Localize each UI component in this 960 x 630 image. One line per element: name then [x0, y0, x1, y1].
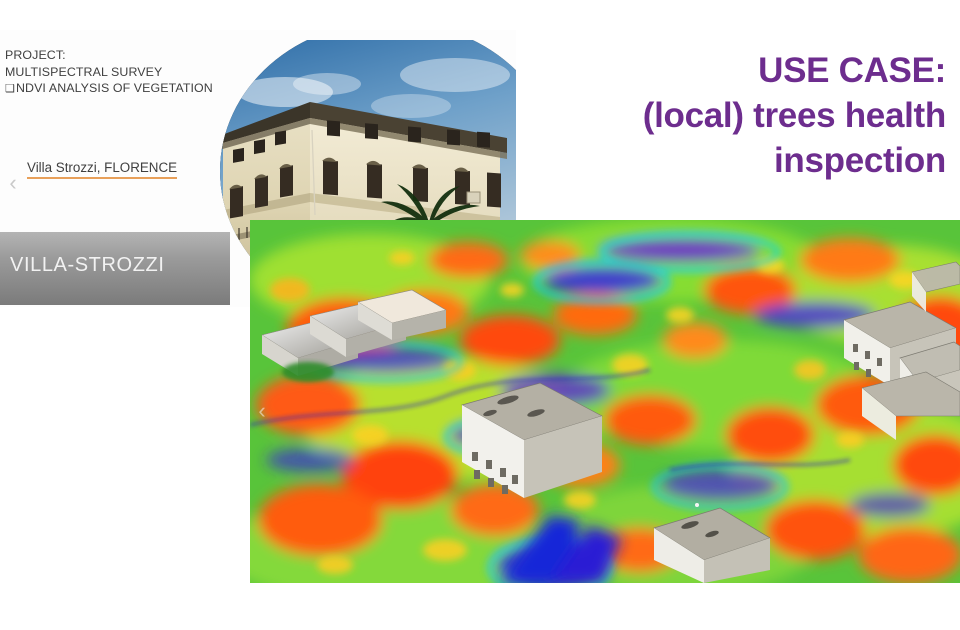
slide-canvas: PROJECT: MULTISPECTRAL SURVEY ❑NDVI ANAL…	[0, 0, 960, 630]
project-description: PROJECT: MULTISPECTRAL SURVEY ❑NDVI ANAL…	[5, 47, 220, 98]
page-title-line-2: (local) trees health	[476, 93, 946, 138]
chevron-left-ndvi-icon[interactable]: ‹	[253, 398, 271, 424]
page-title-line-3: inspection	[476, 138, 946, 183]
page-title: USE CASE: (local) trees health inspectio…	[476, 48, 946, 183]
ndvi-heatmap-image	[250, 220, 960, 583]
ndvi-bullet-line: ❑NDVI ANALYSIS OF VEGETATION	[5, 80, 220, 98]
checkbox-icon: ❑	[5, 83, 15, 95]
villa-strozzi-banner-label: VILLA-STROZZI	[10, 254, 165, 277]
chevron-left-icon[interactable]: ‹	[4, 170, 22, 196]
ndvi-analysis-label: NDVI ANALYSIS OF VEGETATION	[16, 81, 213, 95]
site-name-label: Villa Strozzi, FLORENCE	[27, 160, 177, 179]
survey-type-label: MULTISPECTRAL SURVEY	[5, 64, 220, 81]
ndvi-marker-dot	[695, 503, 699, 507]
page-title-line-1: USE CASE:	[476, 48, 946, 93]
project-label: PROJECT:	[5, 47, 220, 64]
